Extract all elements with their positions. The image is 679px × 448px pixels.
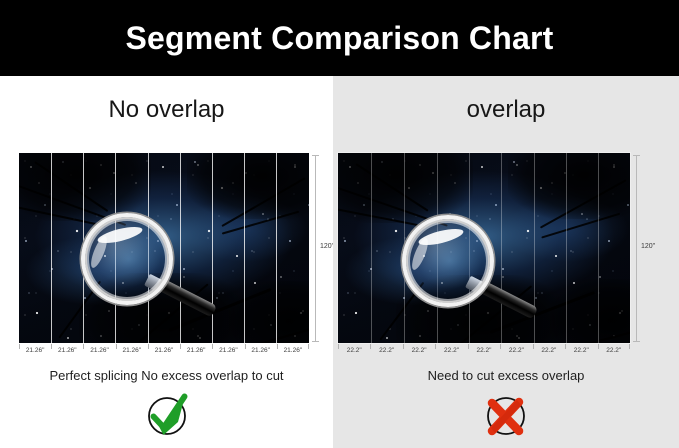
cross-circle-icon [483, 392, 529, 438]
height-dimension-cap-bottom [633, 341, 640, 342]
width-label: 22.2" [468, 344, 500, 358]
verdict-badge-overlap [333, 392, 679, 438]
tree-silhouette [338, 153, 630, 343]
height-dimension-rule [315, 155, 316, 341]
height-dimension-cap-top [312, 155, 319, 156]
width-label: 22.2" [403, 344, 435, 358]
mural-image [19, 153, 309, 343]
width-label: 22.2" [533, 344, 565, 358]
height-dimension-cap-top [633, 155, 640, 156]
panel-heading-no-overlap: No overlap [0, 98, 333, 122]
width-label: 22.2" [435, 344, 467, 358]
width-labels-no-overlap: 21.26" 21.26" 21.26" 21.26" 21.26" 21.26… [19, 344, 309, 358]
width-label: 22.2" [500, 344, 532, 358]
caption-overlap: Need to cut excess overlap [333, 369, 679, 382]
starfield-layer-faint [338, 153, 630, 343]
height-dimension-rule [636, 155, 637, 341]
header-banner: Segment Comparison Chart [0, 0, 679, 76]
width-label: 21.26" [212, 344, 244, 358]
panel-no-overlap: No overlap [0, 76, 333, 448]
comparison-panels: No overlap [0, 76, 679, 448]
height-dimension-cap-bottom [312, 341, 319, 342]
width-label: 21.26" [116, 344, 148, 358]
mural-image [338, 153, 630, 343]
panel-overlap: overlap [333, 76, 679, 448]
segment-seam-lines [19, 153, 309, 343]
width-label: 21.26" [83, 344, 115, 358]
mural-overlap: 120" 22.2" 22.2" 22.2" 22.2" 22.2" 22.2"… [338, 153, 630, 343]
magnifier-icon [402, 215, 552, 323]
tree-silhouette [19, 153, 309, 343]
width-labels-overlap: 22.2" 22.2" 22.2" 22.2" 22.2" 22.2" 22.2… [338, 344, 630, 358]
starfield-layer-faint [19, 153, 309, 343]
check-circle-icon [144, 392, 190, 438]
verdict-badge-no-overlap [0, 392, 333, 438]
starfield-layer-mid [338, 153, 630, 343]
height-label-overlap: 120" [641, 243, 655, 250]
width-label: 21.26" [277, 344, 309, 358]
width-label: 21.26" [148, 344, 180, 358]
width-label: 21.26" [245, 344, 277, 358]
width-label: 22.2" [565, 344, 597, 358]
width-label: 21.26" [51, 344, 83, 358]
starfield-layer-bright [19, 153, 309, 343]
mural-no-overlap: 120" 21.26" 21.26" 21.26" 21.26" 21.26" … [19, 153, 309, 343]
width-label: 22.2" [370, 344, 402, 358]
caption-no-overlap: Perfect splicing No excess overlap to cu… [0, 369, 333, 382]
starfield-layer-mid [19, 153, 309, 343]
page-title: Segment Comparison Chart [126, 22, 554, 54]
width-label: 22.2" [598, 344, 630, 358]
width-label: 21.26" [19, 344, 51, 358]
panel-heading-overlap: overlap [333, 98, 679, 122]
segment-comparison-chart-page: Segment Comparison Chart No overlap [0, 0, 679, 448]
segment-seam-lines [338, 153, 630, 343]
starfield-layer-bright [338, 153, 630, 343]
width-label: 21.26" [180, 344, 212, 358]
magnifier-icon [81, 213, 231, 321]
width-label: 22.2" [338, 344, 370, 358]
